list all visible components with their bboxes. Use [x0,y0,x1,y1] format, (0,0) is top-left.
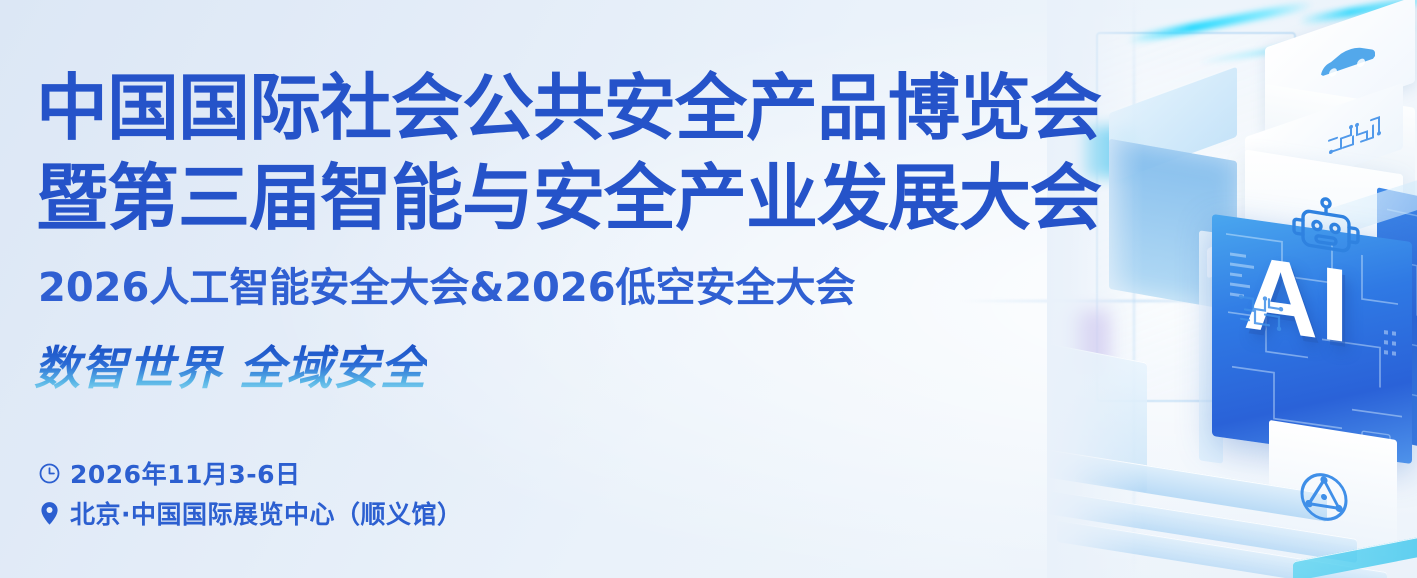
event-banner: AI [0,0,1417,578]
event-location-row: 北京·中国国际展览中心（顺义馆） [38,495,463,531]
network-orbit-icon [1295,463,1353,535]
light-streak [1126,0,1314,45]
main-title-line-1: 中国国际社会公共安全产品博览会 [36,72,1101,144]
event-date-row: 2026年11月3-6日 [38,455,301,491]
event-location-text: 北京·中国国际展览中心（顺义馆） [70,495,463,531]
event-date-text: 2026年11月3-6日 [70,455,301,491]
banner-text-content: 中国国际社会公共安全产品博览会 暨第三届智能与安全产业发展大会 2026人工智能… [0,0,1130,578]
clock-icon [38,462,61,485]
robot-icon [1291,190,1361,268]
circuit-brain-icon [1235,284,1287,345]
slogan: 数智世界 全域安全 [34,344,427,392]
subtitle: 2026人工智能安全大会&2026低空安全大会 [38,268,856,308]
location-pin-icon [38,501,61,526]
main-title-line-2: 暨第三届智能与安全产业发展大会 [36,162,1101,234]
